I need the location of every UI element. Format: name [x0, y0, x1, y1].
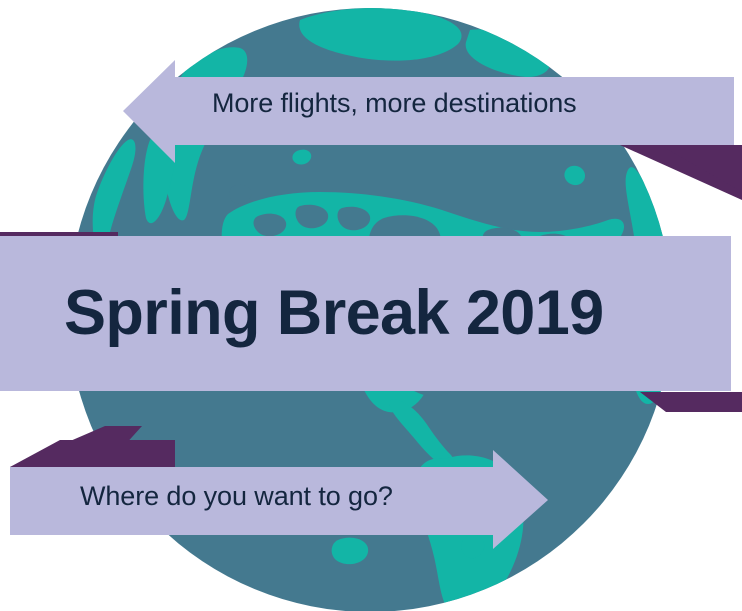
spring-break-poster: More flights, more destinations Spring B…	[0, 0, 742, 611]
banner-shapes	[0, 0, 742, 611]
top-arrow-banner	[123, 60, 734, 163]
title-banner	[0, 236, 731, 391]
bottom-arrow-banner	[10, 450, 548, 549]
